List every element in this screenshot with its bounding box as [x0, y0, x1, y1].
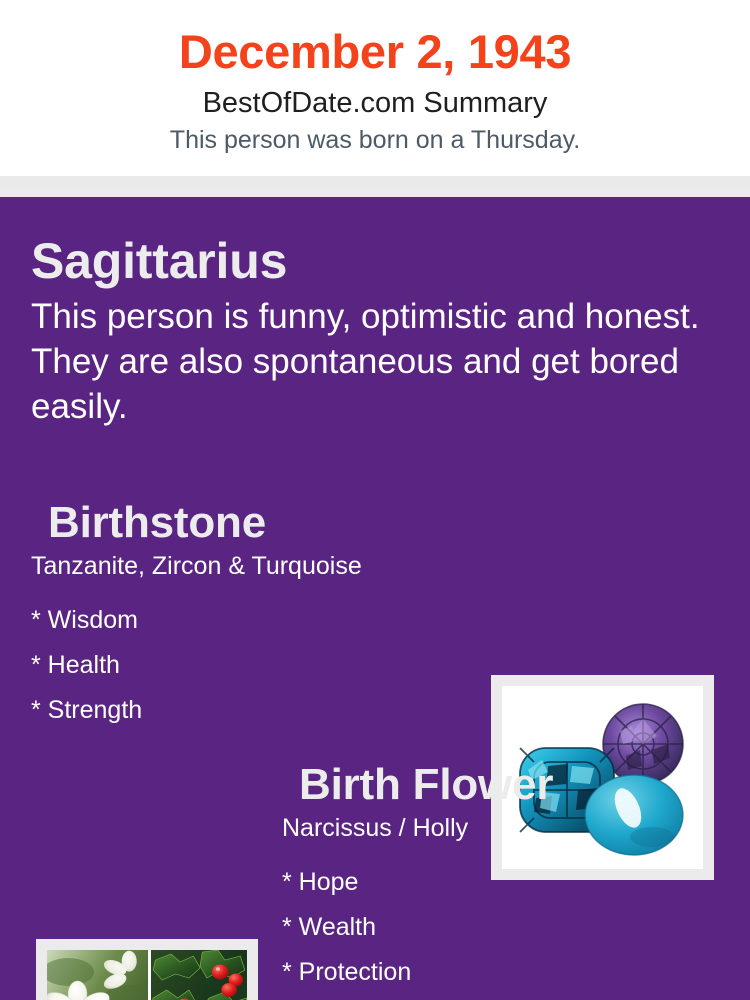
flower-illustration: [47, 950, 247, 1000]
holly-photo-half: [151, 950, 247, 1000]
birthstone-trait-list: * Wisdom * Health * Strength: [31, 598, 471, 733]
zodiac-description: This person is funny, optimistic and hon…: [31, 294, 731, 429]
zodiac-section: Sagittarius This person is funny, optimi…: [31, 232, 721, 429]
list-item: * Health: [31, 643, 471, 688]
birth-flower-trait-list: * Hope * Wealth * Protection: [282, 860, 732, 995]
birthstone-names: Tanzanite, Zircon & Turquoise: [31, 550, 471, 582]
birth-flower-names: Narcissus / Holly: [282, 812, 732, 844]
header-divider-band: [0, 176, 750, 190]
birth-flower-title: Birth Flower: [282, 759, 732, 811]
page-header: December 2, 1943 BestOfDate.com Summary …: [0, 0, 750, 176]
summary-panel: Sagittarius This person is funny, optimi…: [0, 197, 750, 1000]
day-of-week-note: This person was born on a Thursday.: [0, 123, 750, 157]
birth-flower-section: Birth Flower Narcissus / Holly * Hope * …: [282, 759, 732, 995]
birthstone-title: Birthstone: [31, 497, 471, 549]
birthstone-section: Birthstone Tanzanite, Zircon & Turquoise…: [31, 497, 471, 733]
list-item: * Hope: [282, 860, 732, 905]
birth-flower-image: [47, 950, 247, 1000]
page-title-date: December 2, 1943: [0, 22, 750, 82]
zodiac-sign-title: Sagittarius: [31, 232, 721, 290]
site-name-subtitle: BestOfDate.com Summary: [0, 84, 750, 122]
list-item: * Wisdom: [31, 598, 471, 643]
header-divider-band-2: [0, 190, 750, 197]
list-item: * Wealth: [282, 905, 732, 950]
narcissus-photo-half: [47, 950, 148, 1000]
birth-flower-image-frame: [36, 939, 258, 1000]
list-item: * Protection: [282, 950, 732, 995]
list-item: * Strength: [31, 688, 471, 733]
